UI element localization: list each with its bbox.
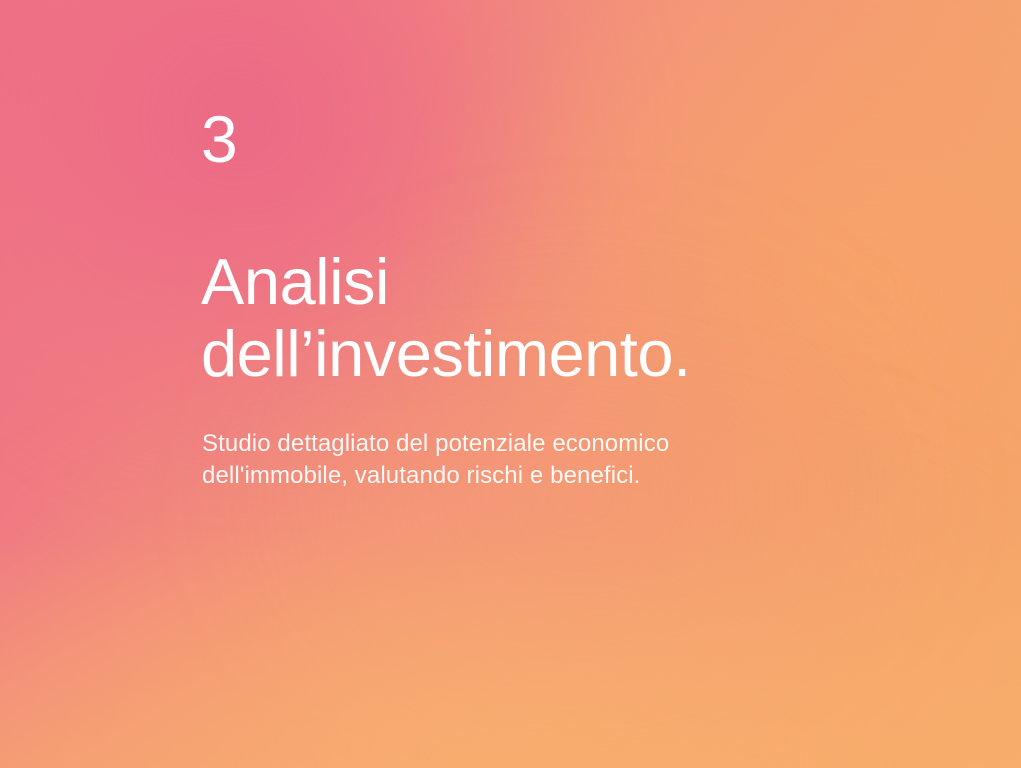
slide-subtitle-line-2: dell'immobile, valutando rischi e benefi… [202, 460, 842, 492]
section-number: 3 [201, 106, 238, 172]
page-title-line-1: Analisi [201, 246, 901, 318]
slide-content: 3 Analisi dell’investimento. Studio dett… [201, 0, 881, 768]
slide-subtitle: Studio dettagliato del potenziale econom… [202, 428, 842, 492]
slide-section-divider: 3 Analisi dell’investimento. Studio dett… [0, 0, 1021, 768]
slide-subtitle-line-1: Studio dettagliato del potenziale econom… [202, 428, 842, 460]
page-title: Analisi dell’investimento. [201, 246, 901, 390]
page-title-line-2: dell’investimento. [201, 318, 901, 390]
